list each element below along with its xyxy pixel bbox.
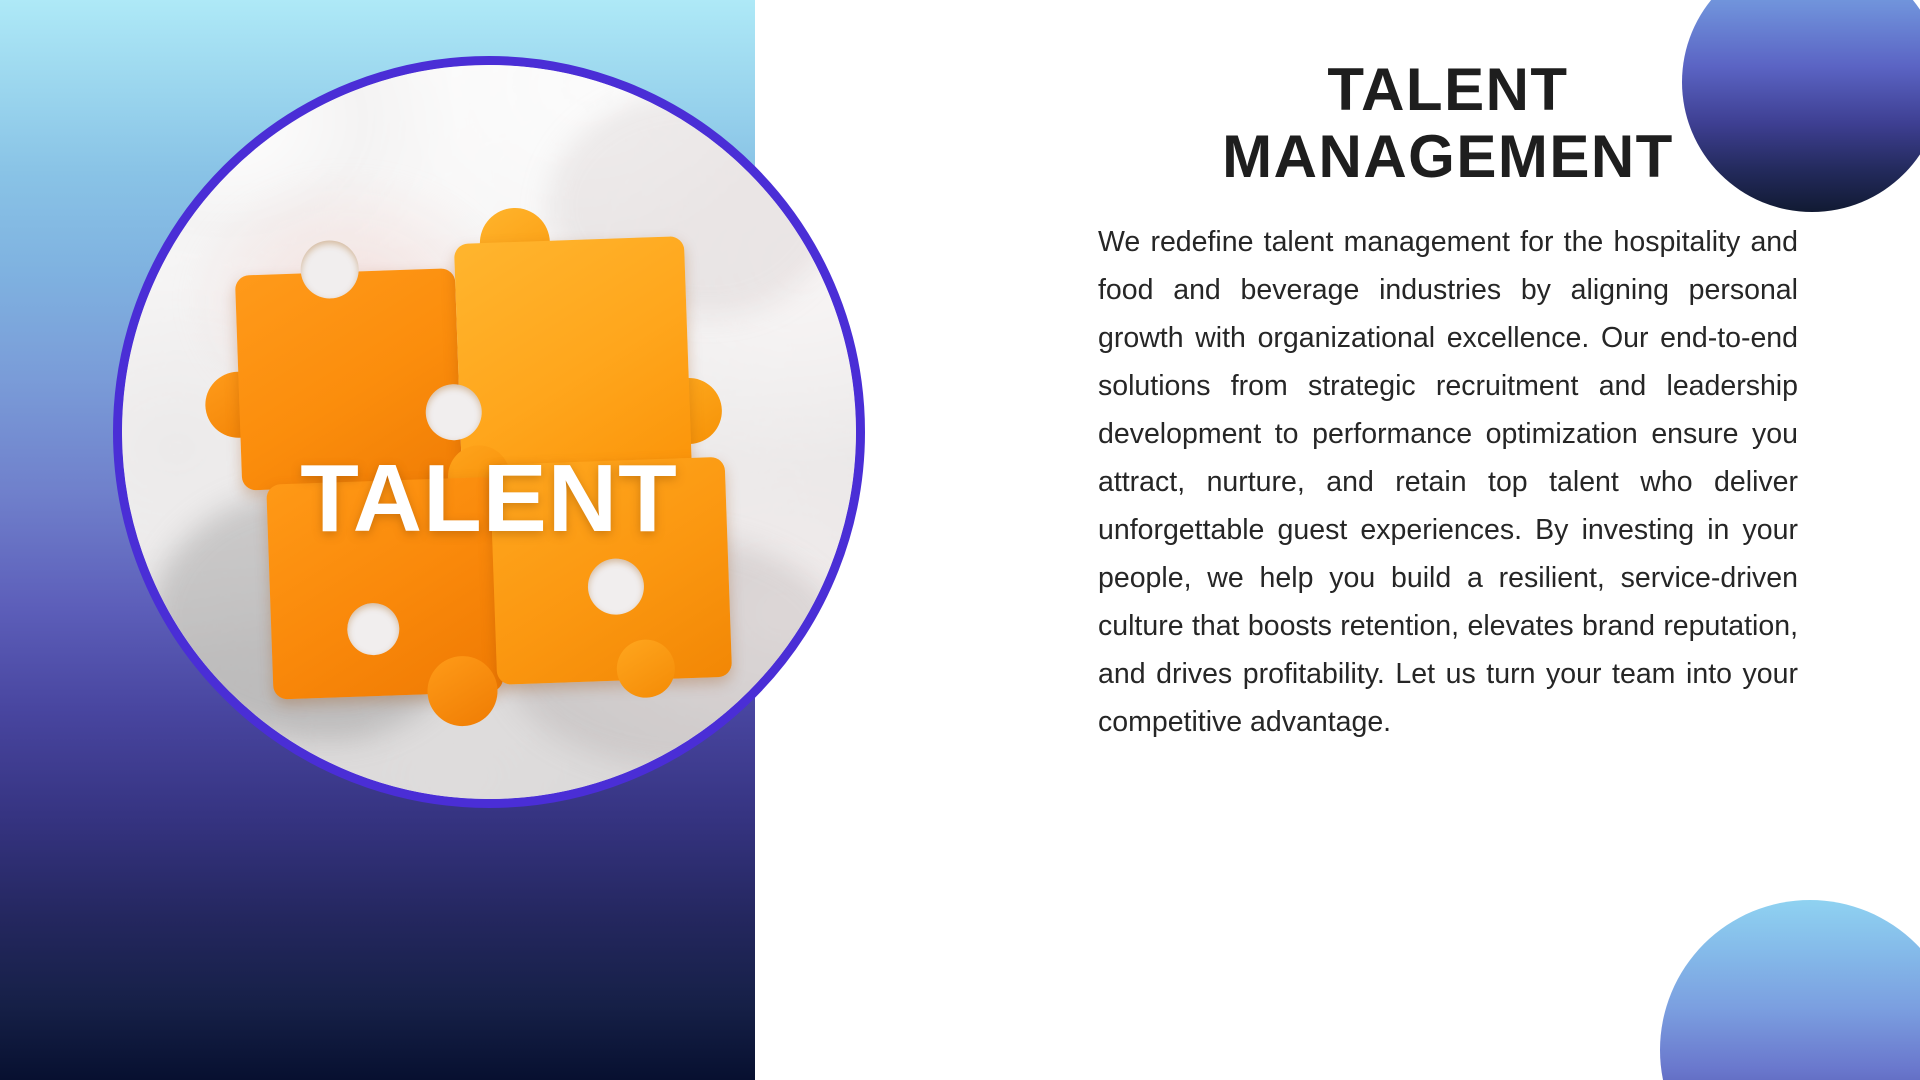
page-title-line-2: MANAGEMENT	[1098, 123, 1798, 190]
puzzle-piece-top-right	[454, 236, 692, 479]
slide-canvas: TALENT TALENT MANAGEMENT We redefine tal…	[0, 0, 1920, 1080]
decorative-sphere-bottom-right	[1660, 900, 1920, 1080]
page-title: TALENT MANAGEMENT	[1098, 56, 1798, 190]
puzzle-photo-inner: TALENT	[122, 65, 856, 799]
body-paragraph: We redefine talent management for the ho…	[1098, 218, 1798, 746]
page-title-line-1: TALENT	[1098, 56, 1798, 123]
puzzle-overlay-word: TALENT	[122, 451, 856, 547]
puzzle-photo-circle: TALENT	[113, 56, 865, 808]
content-column: TALENT MANAGEMENT We redefine talent man…	[1098, 56, 1798, 746]
